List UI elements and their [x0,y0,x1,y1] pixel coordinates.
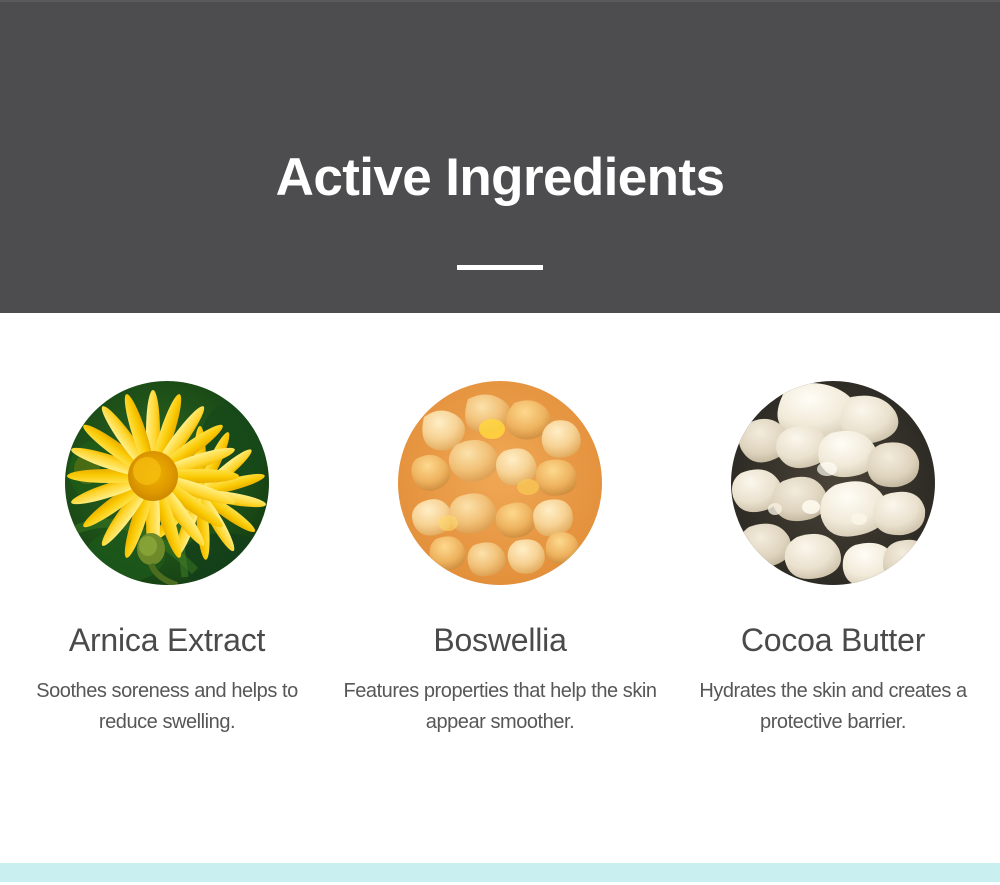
header-top-hairline [0,0,1000,2]
boswellia-resin-image [398,381,602,585]
footer-accent-bar [0,863,1000,882]
ingredient-name: Boswellia [433,623,566,658]
cocoa-butter-image [731,381,935,585]
page-title: Active Ingredients [0,148,1000,209]
ingredient-description: Features properties that help the skin a… [340,676,660,738]
ingredient-description: Soothes soreness and helps to reduce swe… [7,676,327,738]
ingredient-name: Cocoa Butter [741,623,925,658]
ingredient-card-cocoa-butter: Cocoa Butter Hydrates the skin and creat… [667,313,1000,738]
page-header: Active Ingredients [0,0,1000,313]
ingredient-description: Hydrates the skin and creates a protecti… [673,676,993,738]
ingredients-list: Arnica Extract Soothes soreness and help… [0,313,1000,863]
ingredient-name: Arnica Extract [69,623,265,658]
ingredient-card-arnica: Arnica Extract Soothes soreness and help… [1,313,334,738]
ingredient-card-boswellia: Boswellia Features properties that help … [334,313,667,738]
ingredients-page: Active Ingredients [0,0,1000,885]
arnica-flower-image [65,381,269,585]
title-divider-rule [457,265,543,270]
